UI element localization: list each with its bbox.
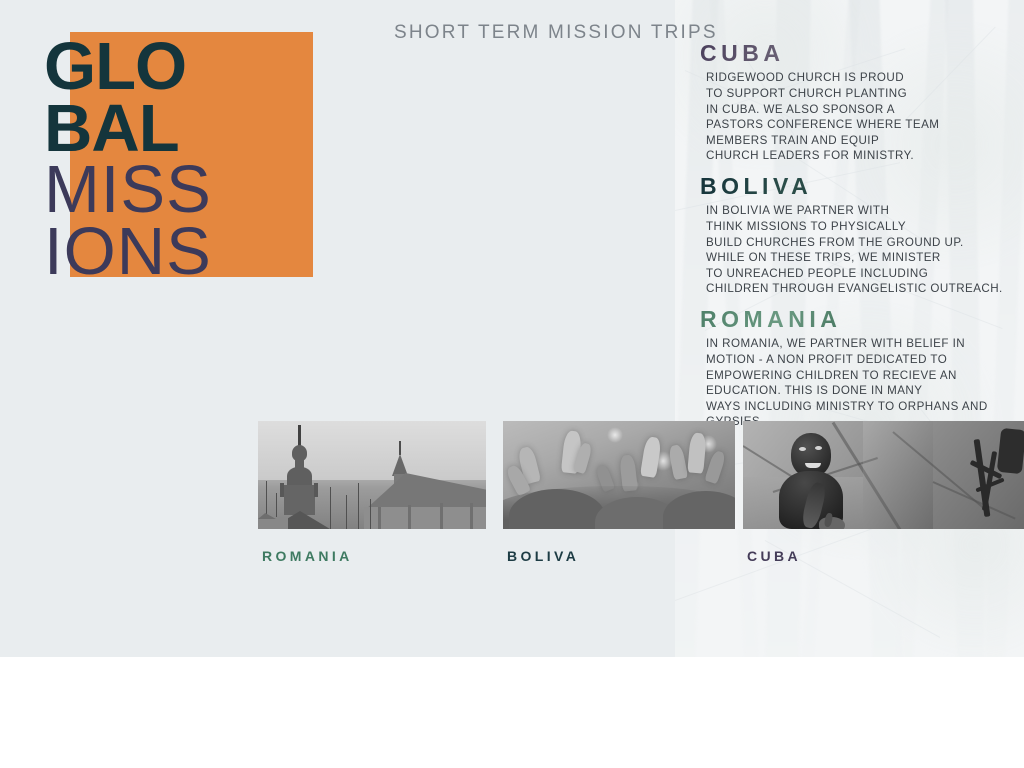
country-heading-romania: ROMANIA xyxy=(700,306,1012,332)
country-block-romania: ROMANIA IN ROMANIA, WE PARTNER WITH BELI… xyxy=(700,306,1012,430)
body-line: MEMBERS TRAIN AND EQUIP xyxy=(706,133,1012,149)
body-line: TO SUPPORT CHURCH PLANTING xyxy=(706,86,1012,102)
body-line: WHILE ON THESE TRIPS, WE MINISTER xyxy=(706,250,1012,266)
country-descriptions: CUBA RIDGEWOOD CHURCH IS PROUD TO SUPPOR… xyxy=(700,40,1012,439)
body-line: CHURCH LEADERS FOR MINISTRY. xyxy=(706,148,1012,164)
photo-caption-boliva: BOLIVA xyxy=(507,548,579,564)
body-line: MOTION - A NON PROFIT DEDICATED TO xyxy=(706,352,1012,368)
country-body-romania: IN ROMANIA, WE PARTNER WITH BELIEF IN MO… xyxy=(700,336,1012,430)
logo-line-miss: MISS xyxy=(44,159,344,221)
photo-strip: ROMANIA xyxy=(258,421,1024,572)
country-block-boliva: BOLIVA IN BOLIVIA WE PARTNER WITH THINK … xyxy=(700,173,1012,297)
photo-caption-cuba: CUBA xyxy=(747,548,801,564)
romanian-church-skyline-photo xyxy=(258,421,486,529)
smiling-child-reaching-photo xyxy=(743,421,1024,529)
photo-card-romania: ROMANIA xyxy=(258,421,486,529)
body-line: IN BOLIVIA WE PARTNER WITH xyxy=(706,203,1012,219)
body-line: THINK MISSIONS TO PHYSICALLY xyxy=(706,219,1012,235)
logo-line-bal: BAL xyxy=(44,98,344,160)
photo-caption-romania: ROMANIA xyxy=(262,548,353,564)
country-body-boliva: IN BOLIVIA WE PARTNER WITH THINK MISSION… xyxy=(700,203,1012,297)
country-heading-cuba: CUBA xyxy=(700,40,1012,66)
logo-line-ions: IONS xyxy=(44,221,344,283)
country-block-cuba: CUBA RIDGEWOOD CHURCH IS PROUD TO SUPPOR… xyxy=(700,40,1012,164)
photo-card-cuba: CUBA xyxy=(743,421,1024,529)
body-line: IN CUBA. WE ALSO SPONSOR A xyxy=(706,102,1012,118)
body-line: PASTORS CONFERENCE WHERE TEAM xyxy=(706,117,1012,133)
body-line: TO UNREACHED PEOPLE INCLUDING xyxy=(706,266,1012,282)
country-heading-boliva: BOLIVA xyxy=(700,173,1012,199)
photo-card-boliva: BOLIVA xyxy=(503,421,735,529)
raised-hands-worship-photo xyxy=(503,421,735,529)
logo-line-glo: GLO xyxy=(44,36,344,98)
body-line: RIDGEWOOD CHURCH IS PROUD xyxy=(706,70,1012,86)
body-line: EDUCATION. THIS IS DONE IN MANY xyxy=(706,383,1012,399)
body-line: BUILD CHURCHES FROM THE GROUND UP. xyxy=(706,235,1012,251)
country-body-cuba: RIDGEWOOD CHURCH IS PROUD TO SUPPORT CHU… xyxy=(700,70,1012,164)
body-line: WAYS INCLUDING MINISTRY TO ORPHANS AND xyxy=(706,399,1012,415)
global-missions-logo: GLO BAL MISS IONS xyxy=(44,36,344,283)
slide-canvas: GLO BAL MISS IONS SHORT TERM MISSION TRI… xyxy=(0,0,1024,657)
body-line: EMPOWERING CHILDREN TO RECIEVE AN xyxy=(706,368,1012,384)
page-title: SHORT TERM MISSION TRIPS xyxy=(394,22,718,44)
body-line: IN ROMANIA, WE PARTNER WITH BELIEF IN xyxy=(706,336,1012,352)
body-line: CHILDREN THROUGH EVANGELISTIC OUTREACH. xyxy=(706,281,1012,297)
